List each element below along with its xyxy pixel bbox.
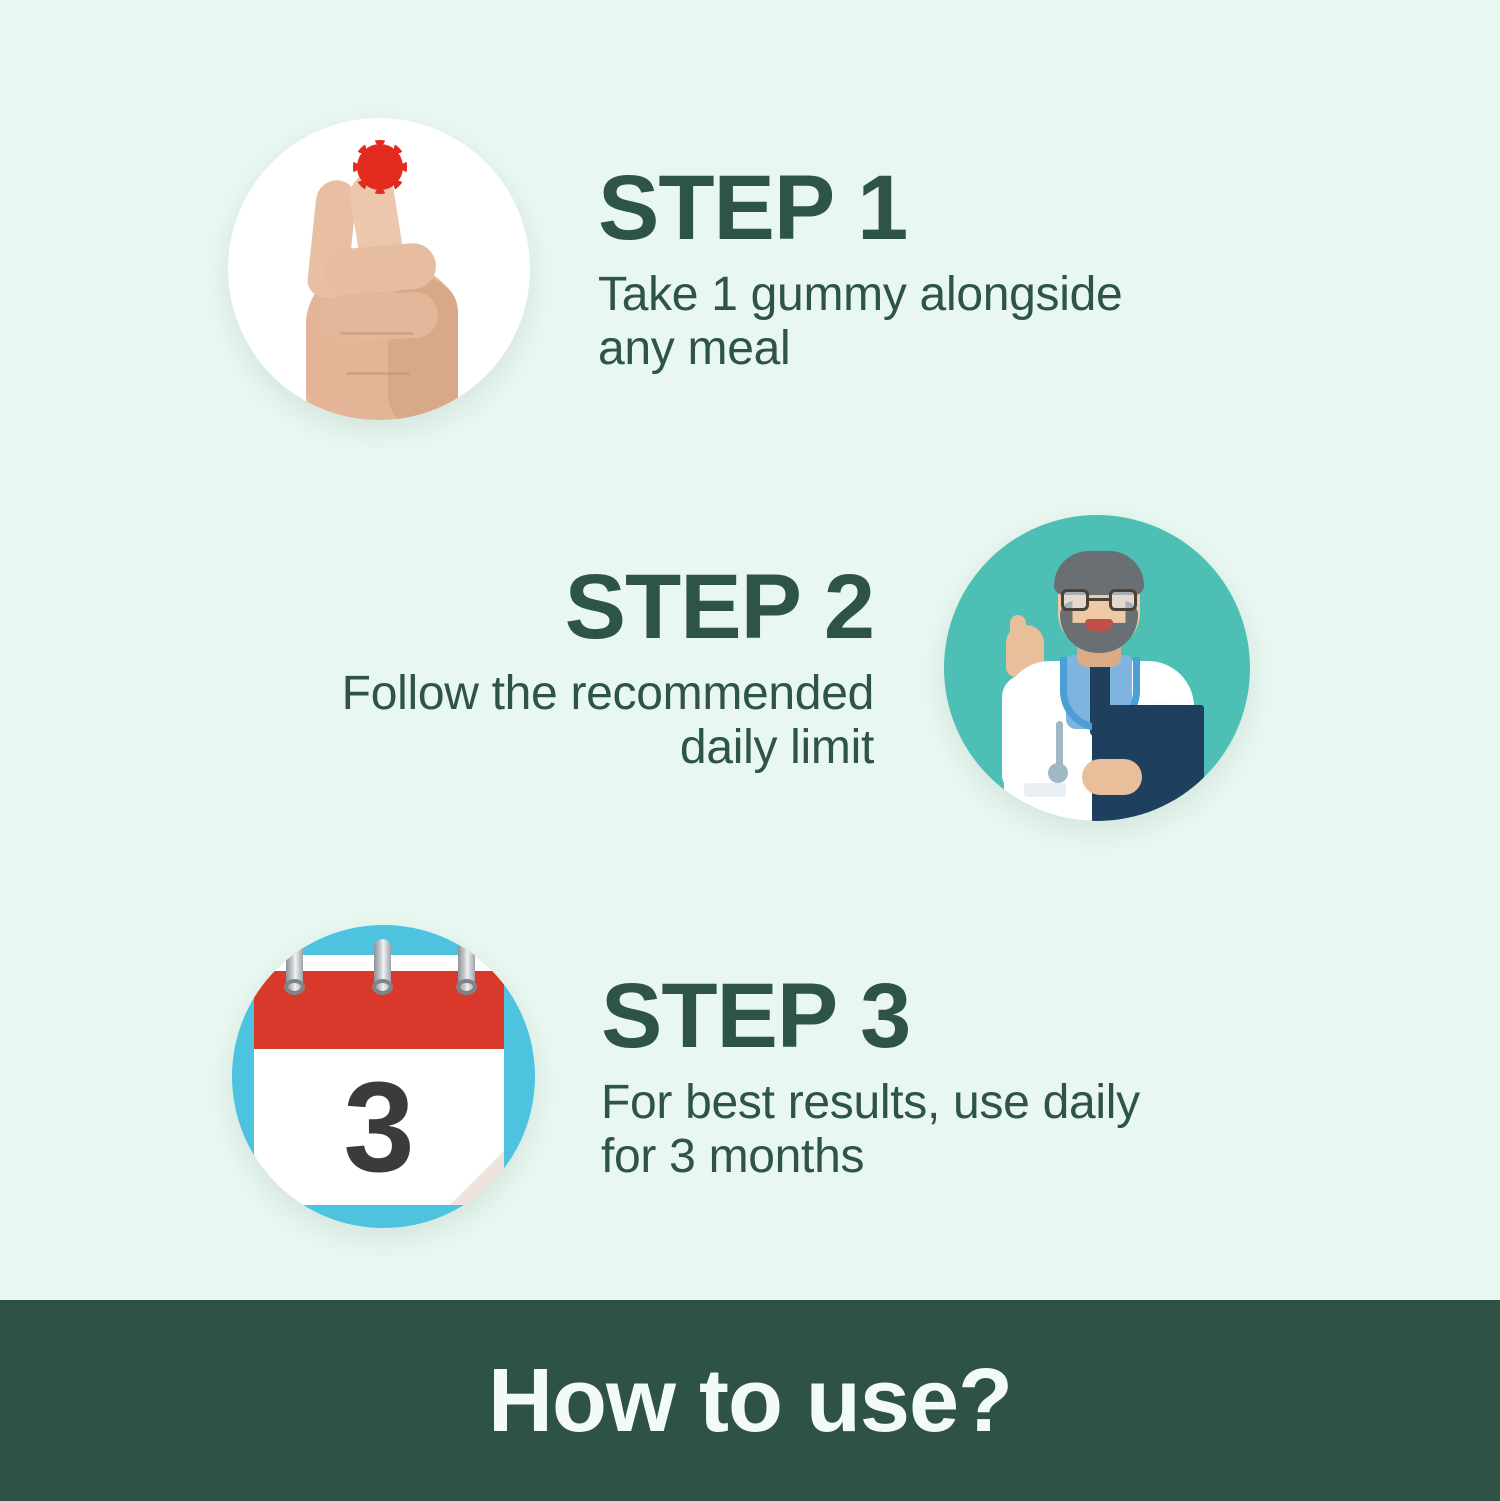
step-1-row: STEP 1 Take 1 gummy alongside any meal — [228, 118, 1143, 420]
stethoscope-tube — [1056, 721, 1063, 769]
step-2-title: STEP 2 — [565, 561, 874, 653]
glasses-icon — [1061, 589, 1137, 611]
step-1-description: Take 1 gummy alongside any meal — [598, 268, 1143, 376]
step-2-row: STEP 2 Follow the recommended daily limi… — [304, 515, 1250, 821]
doctor-coat-pocket — [1024, 783, 1066, 797]
calendar-ring — [374, 939, 391, 991]
step-1-media-circle — [228, 118, 530, 420]
doctor-thumbs-up-illustration — [944, 515, 1250, 821]
step-1-text: STEP 1 Take 1 gummy alongside any meal — [598, 162, 1143, 376]
doctor-holding-hand — [1082, 759, 1142, 795]
footer-bar: How to use? — [0, 1300, 1500, 1501]
calendar-ring — [286, 939, 303, 991]
doctor-mouth — [1085, 619, 1113, 631]
stethoscope-bell — [1048, 763, 1068, 783]
hand-holding-gummy-photo — [228, 118, 530, 420]
step-2-text: STEP 2 Follow the recommended daily limi… — [304, 561, 874, 775]
step-3-row: 3 STEP 3 For best results, use daily for… — [232, 925, 1181, 1228]
knuckle-line — [340, 332, 414, 335]
gummy-icon — [357, 144, 403, 190]
step-1-title: STEP 1 — [598, 162, 1143, 254]
step-3-media-circle: 3 — [232, 925, 535, 1228]
infographic-canvas: STEP 1 Take 1 gummy alongside any meal S… — [0, 0, 1500, 1501]
calendar-ring — [458, 939, 475, 991]
glasses-right-lens — [1109, 589, 1137, 611]
step-3-text: STEP 3 For best results, use daily for 3… — [601, 970, 1181, 1184]
step-2-media-circle — [944, 515, 1250, 821]
step-3-description: For best results, use daily for 3 months — [601, 1076, 1181, 1184]
step-3-title: STEP 3 — [601, 970, 1181, 1062]
knuckle-line — [346, 372, 410, 375]
glasses-bridge — [1089, 598, 1109, 601]
calendar-day-number: 3 — [254, 1051, 504, 1205]
step-2-description: Follow the recommended daily limit — [304, 667, 874, 775]
footer-title: How to use? — [488, 1356, 1012, 1446]
glasses-left-lens — [1061, 589, 1089, 611]
ring-finger-shape — [317, 291, 439, 343]
